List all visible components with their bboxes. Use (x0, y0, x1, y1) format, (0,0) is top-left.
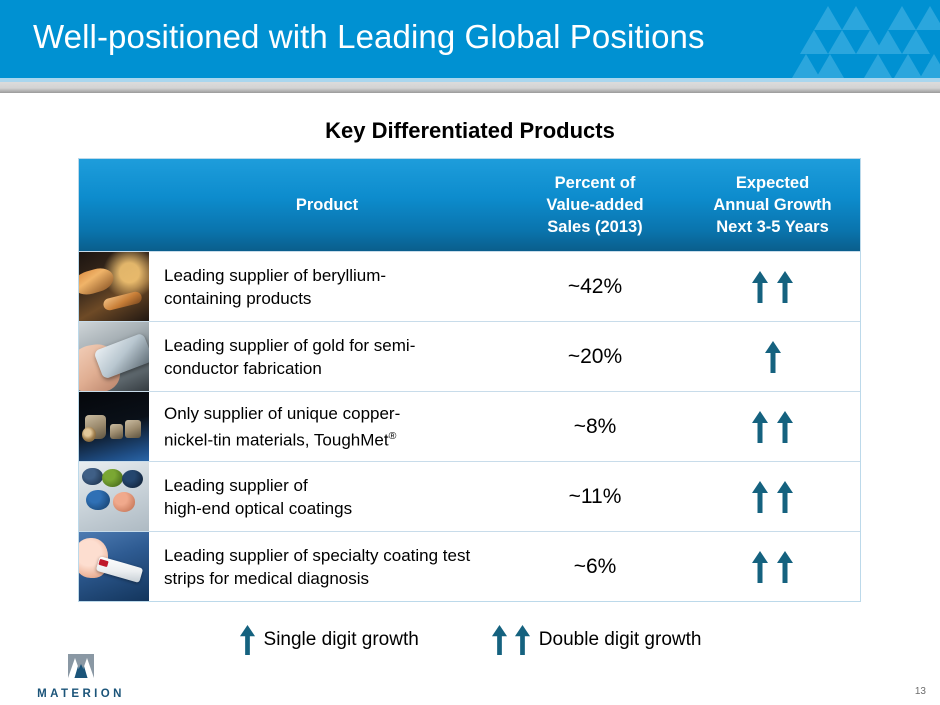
product-description-line-1: Only supplier of unique copper- (164, 402, 400, 425)
table-row: Leading supplier of specialty coating te… (79, 531, 860, 601)
product-thumbnail (79, 252, 149, 321)
growth-legend: Single digit growth Double digit growth (0, 624, 940, 656)
product-description-cell: Leading supplier of high-end optical coa… (149, 462, 505, 531)
up-arrow-icon (776, 550, 794, 584)
up-arrow-icon (764, 340, 782, 374)
legend-arrows-double (491, 624, 531, 656)
section-heading: Key Differentiated Products (0, 118, 940, 144)
materion-wordmark: MATERION (28, 688, 132, 700)
page-title: Well-positioned with Leading Global Posi… (33, 18, 705, 56)
percent-value: ~20% (568, 345, 622, 369)
column-header-expected-annual-growth: Expected Annual Growth Next 3-5 Years (685, 159, 860, 251)
column-header-percent-of-value-added-sales: Percent of Value-added Sales (2013) (505, 159, 685, 251)
column-header-product: Product (149, 159, 505, 251)
up-arrow-icon (514, 624, 531, 656)
product-description-line-1: Leading supplier of specialty coating te… (164, 544, 470, 567)
table-row: Leading supplier of beryllium- containin… (79, 251, 860, 321)
legend-label-single-digit: Single digit growth (264, 629, 419, 651)
product-description-line-2-text: nickel-tin materials, ToughMet (164, 430, 389, 449)
product-description-cell: Leading supplier of gold for semi- condu… (149, 322, 505, 391)
hand-holding-smartphone-photo (79, 322, 149, 391)
legend-label-double-digit: Double digit growth (539, 629, 702, 651)
medical-test-strip-photo (79, 532, 149, 601)
percent-value: ~6% (574, 555, 617, 579)
percent-cell: ~6% (505, 532, 685, 601)
percent-value: ~8% (574, 415, 617, 439)
registered-trademark-symbol: ® (389, 430, 397, 442)
legend-item-double-digit-growth: Double digit growth (491, 624, 702, 656)
growth-cell (685, 252, 860, 321)
up-arrow-icon (239, 624, 256, 656)
column-header-percent-line-2: Value-added (546, 194, 643, 216)
up-arrow-icon (491, 624, 508, 656)
up-arrow-icon (776, 410, 794, 444)
growth-cell (685, 462, 860, 531)
up-arrow-icon (751, 480, 769, 514)
percent-cell: ~42% (505, 252, 685, 321)
legend-arrows-single (239, 624, 256, 656)
up-arrow-icon (776, 270, 794, 304)
percent-cell: ~20% (505, 322, 685, 391)
percent-value: ~11% (569, 485, 622, 509)
percent-cell: ~11% (505, 462, 685, 531)
up-arrow-icon (776, 480, 794, 514)
product-description-line-2: containing products (164, 287, 386, 310)
product-description-line-2: strips for medical diagnosis (164, 567, 470, 590)
slide: Well-positioned with Leading Global Posi… (0, 0, 940, 705)
legend-item-single-digit-growth: Single digit growth (239, 624, 419, 656)
header-banner: Well-positioned with Leading Global Posi… (0, 0, 940, 78)
product-thumbnail (79, 462, 149, 531)
product-description-line-1: Leading supplier of gold for semi- (164, 334, 415, 357)
column-header-thumbnail (79, 159, 149, 251)
product-description-line-1: Leading supplier of (164, 474, 352, 497)
materion-logo: MATERION (28, 654, 132, 700)
product-thumbnail (79, 532, 149, 601)
up-arrow-icon (751, 270, 769, 304)
page-number: 13 (915, 686, 926, 697)
product-description-line-2: nickel-tin materials, ToughMet® (164, 425, 400, 452)
percent-value: ~42% (568, 275, 622, 299)
product-description-cell: Leading supplier of specialty coating te… (149, 532, 505, 601)
triangle-pattern-decoration (792, 0, 940, 78)
product-description-line-1: Leading supplier of beryllium- (164, 264, 386, 287)
metal-bushings-photo (79, 392, 149, 461)
percent-cell: ~8% (505, 392, 685, 461)
up-arrow-icon (751, 410, 769, 444)
copper-rods-photo (79, 252, 149, 321)
column-header-percent-line-3: Sales (2013) (546, 216, 643, 238)
up-arrow-icon (751, 550, 769, 584)
growth-cell (685, 322, 860, 391)
column-header-growth-line-1: Expected (713, 172, 831, 194)
column-header-percent-line-1: Percent of (546, 172, 643, 194)
key-differentiated-products-table: Product Percent of Value-added Sales (20… (78, 158, 861, 602)
table-row: Leading supplier of high-end optical coa… (79, 461, 860, 531)
optical-coatings-photo (79, 462, 149, 531)
product-description-cell: Only supplier of unique copper- nickel-t… (149, 392, 505, 461)
product-description-line-2: conductor fabrication (164, 357, 415, 380)
product-thumbnail (79, 322, 149, 391)
materion-mountain-logo-icon (28, 654, 132, 680)
table-row: Only supplier of unique copper- nickel-t… (79, 391, 860, 461)
table-header-row: Product Percent of Value-added Sales (20… (79, 159, 860, 251)
growth-cell (685, 532, 860, 601)
column-header-growth-line-3: Next 3-5 Years (713, 216, 831, 238)
growth-cell (685, 392, 860, 461)
banner-gray-divider (0, 82, 940, 93)
product-description-cell: Leading supplier of beryllium- containin… (149, 252, 505, 321)
table-row: Leading supplier of gold for semi- condu… (79, 321, 860, 391)
product-description-line-2: high-end optical coatings (164, 497, 352, 520)
product-thumbnail (79, 392, 149, 461)
column-header-growth-line-2: Annual Growth (713, 194, 831, 216)
